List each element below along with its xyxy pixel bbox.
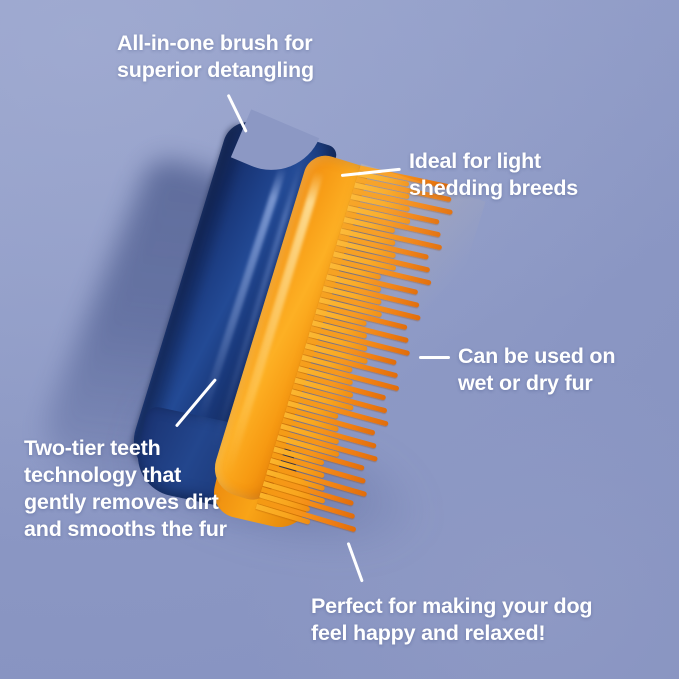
callout-two-tier-teeth: Two-tier teeth technology that gently re… — [24, 435, 227, 543]
callout-ideal-for-light-shedding: Ideal for light shedding breeds — [409, 148, 578, 202]
callout-all-in-one: All-in-one brush for superior detangling — [117, 30, 314, 84]
product-infographic: All-in-one brush for superior detangling… — [0, 0, 679, 679]
callout-happy-and-relaxed: Perfect for making your dog feel happy a… — [311, 593, 592, 647]
leader-line-wet-dry — [419, 356, 450, 359]
callout-wet-or-dry-fur: Can be used on wet or dry fur — [458, 343, 615, 397]
